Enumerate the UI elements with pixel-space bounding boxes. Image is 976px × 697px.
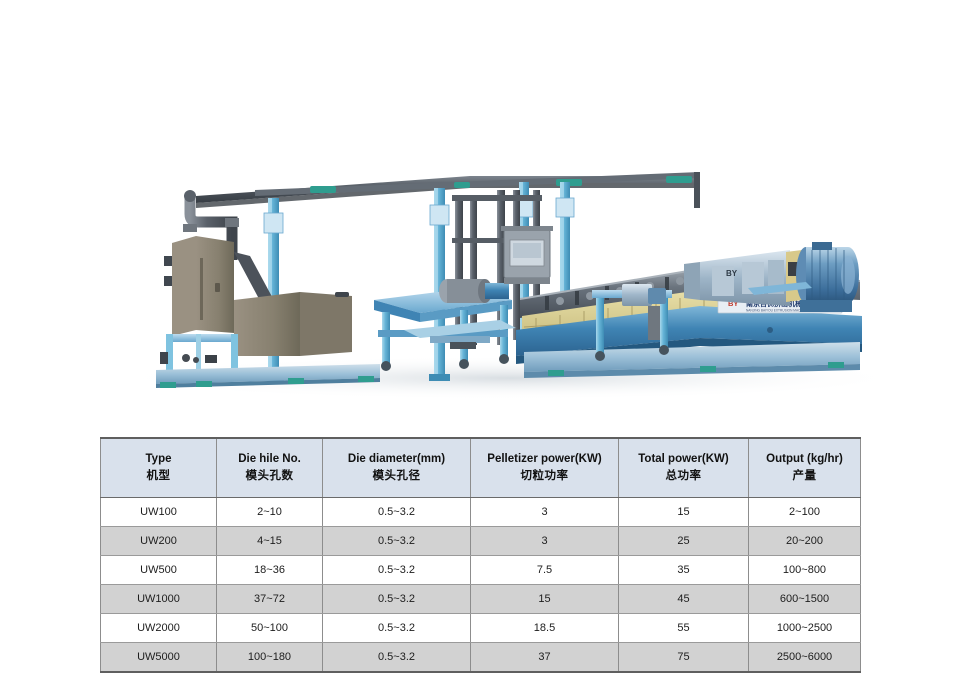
cell-pelletizer-power: 3	[471, 498, 619, 527]
cell-type: UW5000	[101, 643, 217, 673]
table-row: UW500 18~36 0.5~3.2 7.5 35 100~800	[101, 556, 861, 585]
cell-pelletizer-power: 15	[471, 585, 619, 614]
cell-pelletizer-power: 3	[471, 527, 619, 556]
cell-total-power: 45	[619, 585, 749, 614]
cell-die-holes: 18~36	[217, 556, 323, 585]
header-row: Type 机型 Die hile No. 模头孔数 Die diameter(m…	[101, 438, 861, 498]
column-header-type-en: Type	[103, 451, 214, 468]
cell-die-holes: 4~15	[217, 527, 323, 556]
table-row: UW2000 50~100 0.5~3.2 18.5 55 1000~2500	[101, 614, 861, 643]
column-header-type-cn: 机型	[103, 468, 214, 485]
cell-type: UW500	[101, 556, 217, 585]
cell-die-holes: 100~180	[217, 643, 323, 673]
cell-pelletizer-power: 37	[471, 643, 619, 673]
column-header-type: Type 机型	[101, 438, 217, 498]
cell-total-power: 15	[619, 498, 749, 527]
table-row: UW200 4~15 0.5~3.2 3 25 20~200	[101, 527, 861, 556]
cell-die-diameter: 0.5~3.2	[323, 527, 471, 556]
table-header: Type 机型 Die hile No. 模头孔数 Die diameter(m…	[101, 438, 861, 498]
table-row: UW1000 37~72 0.5~3.2 15 45 600~1500	[101, 585, 861, 614]
column-header-die-diameter-cn: 模头孔径	[325, 468, 468, 485]
cell-output: 600~1500	[749, 585, 861, 614]
column-header-pelletizer-power-en: Pelletizer power(KW)	[473, 451, 616, 468]
cell-type: UW200	[101, 527, 217, 556]
cell-total-power: 25	[619, 527, 749, 556]
cell-die-holes: 2~10	[217, 498, 323, 527]
column-header-output-en: Output (kg/hr)	[751, 451, 858, 468]
column-header-pelletizer-power: Pelletizer power(KW) 切粒功率	[471, 438, 619, 498]
gearbox-brand-mark: BY	[726, 269, 738, 278]
column-header-output-cn: 产量	[751, 468, 858, 485]
column-header-die-holes-en: Die hile No.	[219, 451, 320, 468]
table-row: UW100 2~10 0.5~3.2 3 15 2~100	[101, 498, 861, 527]
cell-die-holes: 37~72	[217, 585, 323, 614]
cell-die-diameter: 0.5~3.2	[323, 556, 471, 585]
column-header-output: Output (kg/hr) 产量	[749, 438, 861, 498]
column-header-die-diameter-en: Die diameter(mm)	[325, 451, 468, 468]
column-header-total-power-cn: 总功率	[621, 468, 746, 485]
cell-type: UW2000	[101, 614, 217, 643]
cell-output: 1000~2500	[749, 614, 861, 643]
table-row: UW5000 100~180 0.5~3.2 37 75 2500~6000	[101, 643, 861, 673]
column-header-die-diameter: Die diameter(mm) 模头孔径	[323, 438, 471, 498]
cell-output: 20~200	[749, 527, 861, 556]
cell-die-diameter: 0.5~3.2	[323, 614, 471, 643]
column-header-die-holes-cn: 模头孔数	[219, 468, 320, 485]
control-panel	[501, 226, 553, 284]
specification-table: Type 机型 Die hile No. 模头孔数 Die diameter(m…	[100, 437, 861, 673]
column-header-die-holes: Die hile No. 模头孔数	[217, 438, 323, 498]
column-header-pelletizer-power-cn: 切粒功率	[473, 468, 616, 485]
cell-pelletizer-power: 7.5	[471, 556, 619, 585]
table-body: UW100 2~10 0.5~3.2 3 15 2~100 UW200 4~15…	[101, 498, 861, 673]
cell-type: UW100	[101, 498, 217, 527]
extrusion-line-illustration: BY 南京百优挤出机械有限公司 NANJING BAIYOU EXTRUSION…	[0, 0, 976, 420]
cell-type: UW1000	[101, 585, 217, 614]
specification-table-container: Type 机型 Die hile No. 模头孔数 Die diameter(m…	[100, 437, 860, 673]
cell-pelletizer-power: 18.5	[471, 614, 619, 643]
cell-total-power: 75	[619, 643, 749, 673]
cell-die-diameter: 0.5~3.2	[323, 498, 471, 527]
cell-die-diameter: 0.5~3.2	[323, 585, 471, 614]
product-image: BY 南京百优挤出机械有限公司 NANJING BAIYOU EXTRUSION…	[0, 0, 976, 420]
cell-output: 100~800	[749, 556, 861, 585]
cell-output: 2~100	[749, 498, 861, 527]
cell-total-power: 55	[619, 614, 749, 643]
cell-output: 2500~6000	[749, 643, 861, 673]
cell-die-diameter: 0.5~3.2	[323, 643, 471, 673]
column-header-total-power: Total power(KW) 总功率	[619, 438, 749, 498]
cell-die-holes: 50~100	[217, 614, 323, 643]
column-header-total-power-en: Total power(KW)	[621, 451, 746, 468]
cell-total-power: 35	[619, 556, 749, 585]
